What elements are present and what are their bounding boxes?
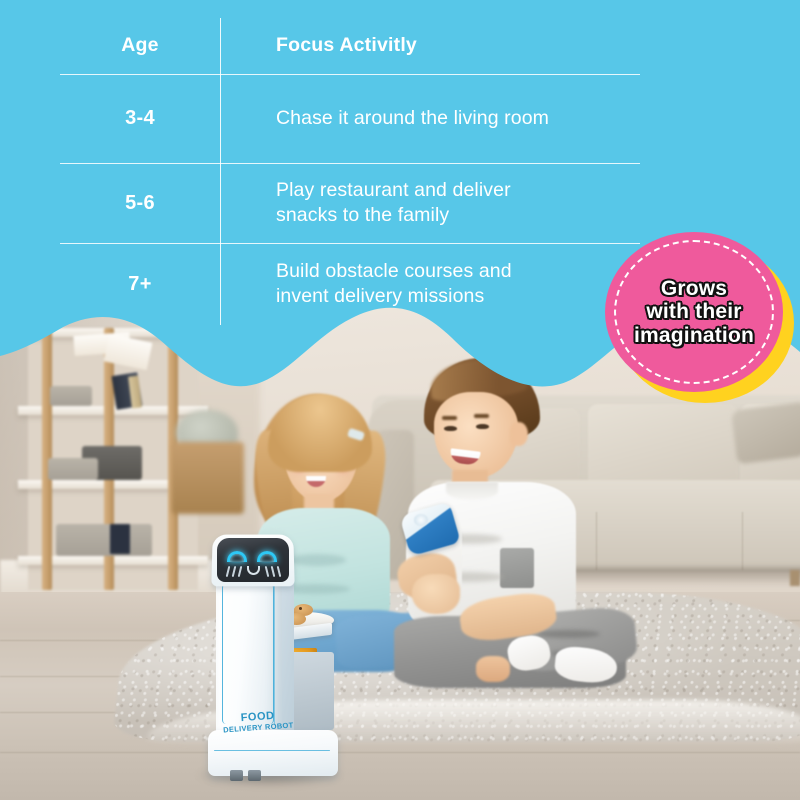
badge-line-3: imagination	[634, 324, 754, 347]
badge-line-2: with their	[646, 300, 741, 323]
header-activity: Focus Activitly	[220, 18, 640, 74]
badge-line-1: Grows	[661, 277, 727, 300]
badge-circle: Grows with their imagination	[605, 232, 783, 392]
infographic-canvas: FOOD DELIVERY ROBOT Age Focus Activitly …	[0, 0, 800, 800]
robot-eye-left	[227, 551, 247, 562]
remote-joystick	[414, 514, 428, 526]
cell-activity-1: Play restaurant and deliversnacks to the…	[220, 163, 640, 243]
cell-activity-0: Chase it around the living room	[220, 74, 640, 163]
table-row: 7+ Build obstacle courses andinvent deli…	[60, 243, 640, 325]
grows-with-imagination-badge: Grows with their imagination	[605, 232, 800, 408]
age-activity-table: Age Focus Activitly 3-4 Chase it around …	[60, 18, 640, 325]
food-delivery-robot: FOOD DELIVERY ROBOT	[206, 534, 334, 784]
cell-activity-2: Build obstacle courses andinvent deliver…	[220, 243, 640, 325]
table-row: 3-4 Chase it around the living room	[60, 74, 640, 163]
robot-smile	[247, 566, 260, 575]
side-cabinet	[172, 442, 244, 514]
sofa-pillow	[731, 402, 800, 465]
badge-text: Grows with their imagination	[620, 277, 768, 348]
robot-face-screen	[217, 538, 289, 582]
table-row: 5-6 Play restaurant and deliversnacks to…	[60, 163, 640, 243]
table-header-row: Age Focus Activitly	[60, 18, 640, 74]
header-age: Age	[60, 18, 220, 74]
robot-eye-right	[257, 551, 277, 562]
cell-age-2: 7+	[60, 243, 220, 325]
cell-age-0: 3-4	[60, 74, 220, 163]
cell-age-1: 5-6	[60, 163, 220, 243]
